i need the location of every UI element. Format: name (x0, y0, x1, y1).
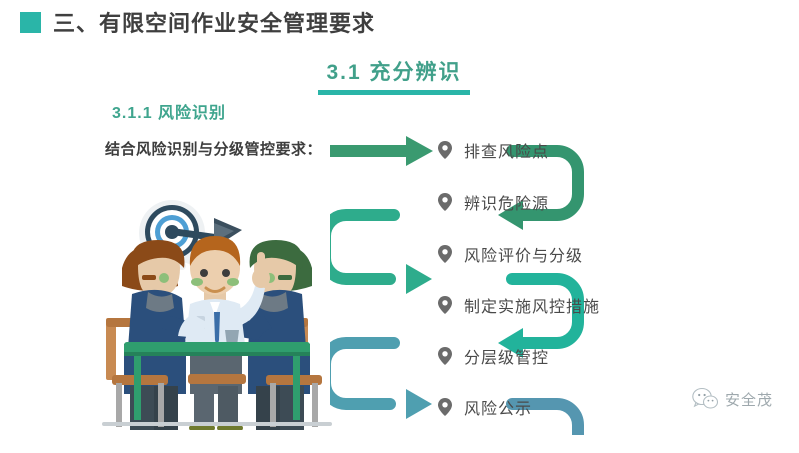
watermark-text: 安全茂 (725, 389, 773, 410)
map-pin-icon (438, 141, 452, 159)
list-item-label: 排查风险点 (464, 138, 549, 162)
list-item[interactable]: 分层级管控 (438, 343, 549, 369)
list-item-label: 制定实施风控措施 (464, 293, 600, 317)
slide-header: 三、有限空间作业安全管理要求 (20, 6, 375, 38)
section-title: 3.1 充分辨识 (318, 56, 470, 86)
list-item[interactable]: 排查风险点 (438, 137, 549, 163)
section-underline (318, 90, 470, 95)
list-item-label: 风险评价与分级 (464, 242, 583, 266)
section-heading: 3.1 充分辨识 (318, 56, 470, 95)
flow-arrow-3 (330, 215, 432, 294)
flow-arrow-5 (330, 343, 432, 419)
watermark: 安全茂 (692, 386, 773, 412)
subsection-title: 3.1.1 风险识别 (112, 99, 226, 123)
map-pin-icon (438, 398, 452, 416)
list-item[interactable]: 风险公示 (438, 394, 532, 420)
map-pin-icon (438, 296, 452, 314)
business-meeting-illustration (92, 190, 342, 430)
list-item[interactable]: 风险评价与分级 (438, 241, 583, 267)
header-bullet-square (20, 12, 41, 33)
map-pin-icon (438, 347, 452, 365)
page-title: 三、有限空间作业安全管理要求 (53, 6, 375, 38)
lead-paragraph: 结合风险识别与分级管控要求： (105, 138, 330, 162)
map-pin-icon (438, 245, 452, 263)
list-item[interactable]: 辨识危险源 (438, 189, 549, 215)
wechat-icon (692, 386, 718, 412)
flow-arrow-diagram (330, 120, 730, 435)
flow-arrow-1 (330, 136, 433, 166)
list-item[interactable]: 制定实施风控措施 (438, 292, 600, 318)
list-item-label: 辨识危险源 (464, 190, 549, 214)
list-item-label: 风险公示 (464, 395, 532, 419)
slide-root: 三、有限空间作业安全管理要求 3.1 充分辨识 3.1.1 风险识别 结合风险识… (0, 0, 799, 453)
list-item-label: 分层级管控 (464, 344, 549, 368)
map-pin-icon (438, 193, 452, 211)
